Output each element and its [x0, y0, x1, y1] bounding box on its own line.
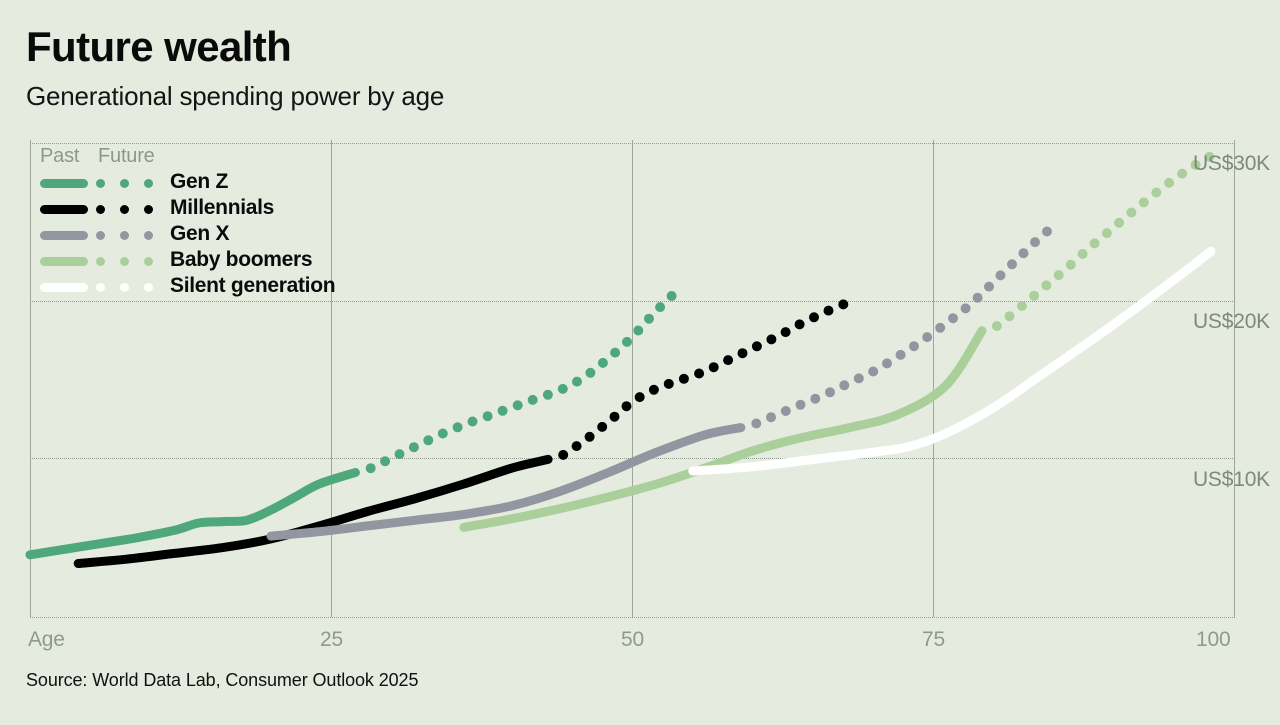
- series-future-dot: [825, 387, 835, 397]
- series-future-dot: [667, 291, 677, 301]
- series-future-dot: [585, 432, 595, 442]
- series-future-dot: [395, 449, 405, 459]
- series-gen-x: [271, 227, 1052, 537]
- series-future-dot: [558, 384, 568, 394]
- series-future-dot: [572, 441, 582, 451]
- series-future-dot: [1017, 301, 1027, 311]
- series-future-dot: [751, 419, 761, 429]
- legend-past-swatch: [40, 179, 88, 188]
- series-future-dot: [909, 341, 919, 351]
- page-title: Future wealth: [26, 26, 291, 68]
- legend-dot-icon: [120, 283, 129, 292]
- series-future-dot: [543, 390, 553, 400]
- series-future-dot: [468, 417, 478, 427]
- series-future-dot: [838, 299, 848, 309]
- source-note: Source: World Data Lab, Consumer Outlook…: [26, 670, 418, 691]
- x-tick-label-50: 50: [621, 628, 644, 652]
- series-future-dot: [498, 406, 508, 416]
- series-future-dot: [809, 312, 819, 322]
- legend-past-swatch: [40, 231, 88, 240]
- legend-future-swatch: [96, 205, 164, 214]
- y-tick-label-20k: US$20K: [1193, 310, 1270, 334]
- series-future-dot: [810, 394, 820, 404]
- series-future-dot: [854, 373, 864, 383]
- series-future-dot: [679, 374, 689, 384]
- series-future-dot: [453, 422, 463, 432]
- series-future-dot: [996, 270, 1006, 280]
- series-future-dot: [635, 392, 645, 402]
- series-future-dot: [649, 385, 659, 395]
- legend-dot-icon: [96, 231, 105, 240]
- series-future-dot: [796, 400, 806, 410]
- series-future-dot: [1007, 259, 1017, 269]
- series-baby-boomers: [464, 152, 1215, 528]
- legend-dot-icon: [120, 257, 129, 266]
- series-future-dot: [622, 401, 632, 411]
- series-future-dot: [896, 350, 906, 360]
- series-future-dot: [1177, 169, 1187, 179]
- series-future-dot: [984, 282, 994, 292]
- legend-dot-icon: [120, 179, 129, 188]
- series-future-dot: [366, 463, 376, 473]
- series-future-dot: [380, 456, 390, 466]
- legend-dot-icon: [144, 283, 153, 292]
- legend-dot-icon: [96, 283, 105, 292]
- series-silent-generation: [693, 251, 1211, 471]
- series-future-dot: [528, 395, 538, 405]
- page-subtitle: Generational spending power by age: [26, 82, 444, 111]
- series-future-dot: [585, 368, 595, 378]
- series-future-dot: [752, 341, 762, 351]
- legend-dot-icon: [120, 205, 129, 214]
- series-future-dot: [766, 334, 776, 344]
- legend-dot-icon: [144, 257, 153, 266]
- y-tick-label-30k: US$30K: [1193, 152, 1270, 176]
- legend-past-swatch: [40, 283, 88, 292]
- series-future-dot: [948, 313, 958, 323]
- legend-item-label: Baby boomers: [170, 248, 312, 272]
- series-future-dot: [558, 450, 568, 460]
- series-future-dot: [781, 327, 791, 337]
- legend-header-future: Future: [98, 145, 155, 168]
- x-tick-label-age: Age: [28, 628, 65, 652]
- series-future-dot: [1030, 237, 1040, 247]
- series-future-dot: [644, 314, 654, 324]
- series-future-dot: [633, 326, 643, 336]
- legend-future-swatch: [96, 231, 164, 240]
- series-future-dot: [423, 435, 433, 445]
- series-past-line: [30, 473, 355, 555]
- series-future-dot: [1066, 260, 1076, 270]
- x-axis-line: [30, 617, 1235, 618]
- series-future-dot: [664, 379, 674, 389]
- series-future-dot: [1164, 178, 1174, 188]
- legend-future-swatch: [96, 283, 164, 292]
- series-future-dot: [1029, 291, 1039, 301]
- series-future-dot: [598, 358, 608, 368]
- legend-item-label: Gen Z: [170, 170, 228, 194]
- series-future-dot: [795, 319, 805, 329]
- series-future-dot: [723, 355, 733, 365]
- series-future-dot: [1019, 248, 1029, 258]
- series-future-dot: [597, 422, 607, 432]
- legend-future-swatch: [96, 179, 164, 188]
- series-future-dot: [882, 358, 892, 368]
- y-tick-label-10k: US$10K: [1193, 468, 1270, 492]
- series-future-dot: [438, 429, 448, 439]
- series-future-dot: [961, 303, 971, 313]
- series-future-dot: [483, 411, 493, 421]
- series-future-dot: [922, 332, 932, 342]
- series-future-dot: [1005, 311, 1015, 321]
- legend-dot-icon: [144, 231, 153, 240]
- series-future-dot: [738, 348, 748, 358]
- series-future-dot: [694, 369, 704, 379]
- legend-header-past: Past: [40, 145, 79, 168]
- series-future-dot: [1151, 188, 1161, 198]
- series-future-dot: [1090, 238, 1100, 248]
- legend-dot-icon: [120, 231, 129, 240]
- series-future-dot: [409, 442, 419, 452]
- series-past-line: [693, 251, 1211, 471]
- series-future-dot: [1041, 280, 1051, 290]
- series-future-dot: [709, 362, 719, 372]
- series-future-dot: [935, 323, 945, 333]
- series-future-dot: [1078, 249, 1088, 259]
- series-future-dot: [992, 321, 1002, 331]
- legend-future-swatch: [96, 257, 164, 266]
- series-future-dot: [1054, 270, 1064, 280]
- legend-dot-icon: [144, 179, 153, 188]
- series-future-dot: [766, 412, 776, 422]
- series-future-dot: [610, 348, 620, 358]
- series-future-dot: [1114, 218, 1124, 228]
- series-future-dot: [868, 367, 878, 377]
- series-future-dot: [781, 406, 791, 416]
- legend-item-label: Gen X: [170, 222, 229, 246]
- series-future-dot: [1126, 208, 1136, 218]
- series-future-dot: [1102, 228, 1112, 238]
- x-tick-label-75: 75: [922, 628, 945, 652]
- legend-dot-icon: [144, 205, 153, 214]
- x-tick-label-100: 100: [1196, 628, 1230, 652]
- legend-past-swatch: [40, 205, 88, 214]
- series-future-dot: [824, 306, 834, 316]
- legend-dot-icon: [96, 179, 105, 188]
- series-future-dot: [572, 377, 582, 387]
- series-future-dot: [655, 302, 665, 312]
- legend-item-label: Millennials: [170, 196, 274, 220]
- legend-dot-icon: [96, 205, 105, 214]
- chart-root: Future wealth Generational spending powe…: [0, 0, 1280, 725]
- series-future-dot: [513, 400, 523, 410]
- legend-item-label: Silent generation: [170, 274, 335, 298]
- x-tick-label-25: 25: [320, 628, 343, 652]
- series-future-dot: [973, 293, 983, 303]
- series-future-dot: [839, 380, 849, 390]
- series-future-dot: [1042, 227, 1052, 237]
- legend-dot-icon: [96, 257, 105, 266]
- series-future-dot: [610, 412, 620, 422]
- series-future-dot: [1139, 197, 1149, 207]
- series-future-dot: [622, 337, 632, 347]
- legend-past-swatch: [40, 257, 88, 266]
